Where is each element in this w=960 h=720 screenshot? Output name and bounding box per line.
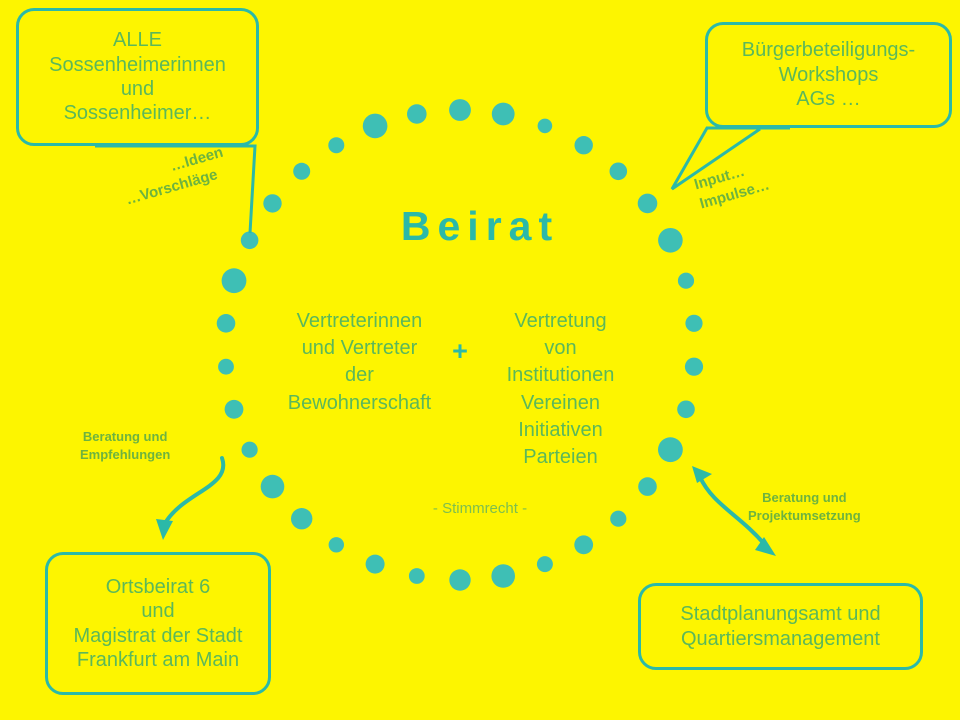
ring-dot <box>261 475 285 499</box>
arrow-label-beratung-empfehlungen: Beratung und Empfehlungen <box>80 428 170 463</box>
ring-dot <box>658 437 683 462</box>
ring-dot <box>575 136 593 154</box>
page-title: Beirat <box>0 203 960 250</box>
box-line: Ortsbeirat 6 <box>54 575 262 599</box>
ring-dot <box>328 137 344 153</box>
callout-box-buergerbeteiligung-text: Bürgerbeteiligungs- Workshops AGs … <box>708 36 949 113</box>
arrow-label-beratung-projektumsetzung: Beratung und Projektumsetzung <box>748 489 861 524</box>
ring-dot <box>638 477 657 496</box>
box-line: Quartiersmanagement <box>647 627 914 651</box>
ring-dot <box>574 535 593 554</box>
tail-label-ideen-vorschlaege: …Ideen …Vorschläge <box>118 143 231 211</box>
ring-dot <box>492 103 515 126</box>
box-stadtplanungsamt-quartiersmanagement[interactable]: Stadtplanungsamt und Quartiersmanagement <box>638 583 923 670</box>
callout-box-buergerbeteiligung[interactable]: Bürgerbeteiligungs- Workshops AGs … <box>705 22 952 128</box>
column-line: Parteien <box>478 444 643 471</box>
column-line: Bewohnerschaft <box>277 390 442 417</box>
plus-icon: + <box>442 308 478 365</box>
column-bewohnerschaft: Vertreterinnen und Vertreter der Bewohne… <box>277 308 442 417</box>
callout-line: Bürgerbeteiligungs- <box>714 38 943 62</box>
box-line: Frankfurt am Main <box>54 648 262 672</box>
box-ortsbeirat-magistrat-text: Ortsbeirat 6 und Magistrat der Stadt Fra… <box>48 573 268 675</box>
arrow-label-line: Empfehlungen <box>80 446 170 464</box>
arrow-label-line: Beratung und <box>748 489 861 507</box>
diagram-canvas: ALLE Sossenheimerinnen und Sossenheimer…… <box>0 0 960 720</box>
ring-dot <box>293 163 310 180</box>
callout-box-buergerinnen[interactable]: ALLE Sossenheimerinnen und Sossenheimer… <box>16 8 259 146</box>
ring-dot <box>610 163 628 181</box>
ring-dot <box>363 114 388 139</box>
ring-dot <box>537 556 553 572</box>
callout-line: Sossenheimer… <box>25 101 250 125</box>
ring-dot <box>217 314 236 333</box>
callout-line: ALLE <box>25 28 250 52</box>
box-line: und <box>54 599 262 623</box>
arrowhead-up-projektumsetzung <box>692 466 712 483</box>
ring-dot <box>685 315 702 332</box>
ring-dot <box>409 568 425 584</box>
ring-dot <box>366 555 385 574</box>
box-line: Stadtplanungsamt und <box>647 602 914 626</box>
arrow-label-line: Beratung und <box>80 428 170 446</box>
callout-line: AGs … <box>714 87 943 111</box>
column-line: von <box>478 335 643 362</box>
box-line: Magistrat der Stadt <box>54 624 262 648</box>
ring-dot <box>218 359 234 375</box>
callout-box-buergerinnen-text: ALLE Sossenheimerinnen und Sossenheimer… <box>19 26 256 128</box>
ring-dot <box>407 104 427 124</box>
column-line: Initiativen <box>478 417 643 444</box>
callout-line: Sossenheimerinnen <box>25 53 250 77</box>
box-ortsbeirat-magistrat[interactable]: Ortsbeirat 6 und Magistrat der Stadt Fra… <box>45 552 271 695</box>
ring-dot <box>685 358 703 376</box>
ring-dot <box>449 569 470 590</box>
column-line: und Vertreter <box>277 335 442 362</box>
ring-dot <box>449 99 471 121</box>
column-institutionen: Vertretung von Institutionen Vereinen In… <box>478 308 643 471</box>
ring-dot <box>491 564 515 588</box>
ring-dot <box>225 400 244 419</box>
ring-dot <box>678 273 694 289</box>
column-line: Institutionen <box>478 362 643 389</box>
column-line: Vertreterinnen <box>277 308 442 335</box>
column-line: Vertretung <box>478 308 643 335</box>
ring-dot <box>329 537 344 552</box>
ring-dot <box>538 119 553 134</box>
ring-dot <box>677 401 695 419</box>
ring-dot <box>242 442 258 458</box>
callout-line: und <box>25 77 250 101</box>
ring-dot <box>222 268 247 293</box>
column-line: der <box>277 362 442 389</box>
arrowhead-down-projektumsetzung <box>755 537 776 556</box>
arrow-label-line: Projektumsetzung <box>748 507 861 525</box>
arrowhead-beratung-empfehlungen <box>156 519 173 540</box>
box-stadtplanungsamt-quartiersmanagement-text: Stadtplanungsamt und Quartiersmanagement <box>641 600 920 653</box>
column-line: Vereinen <box>478 390 643 417</box>
callout-line: Workshops <box>714 63 943 87</box>
center-membership-columns: Vertreterinnen und Vertreter der Bewohne… <box>265 308 655 471</box>
